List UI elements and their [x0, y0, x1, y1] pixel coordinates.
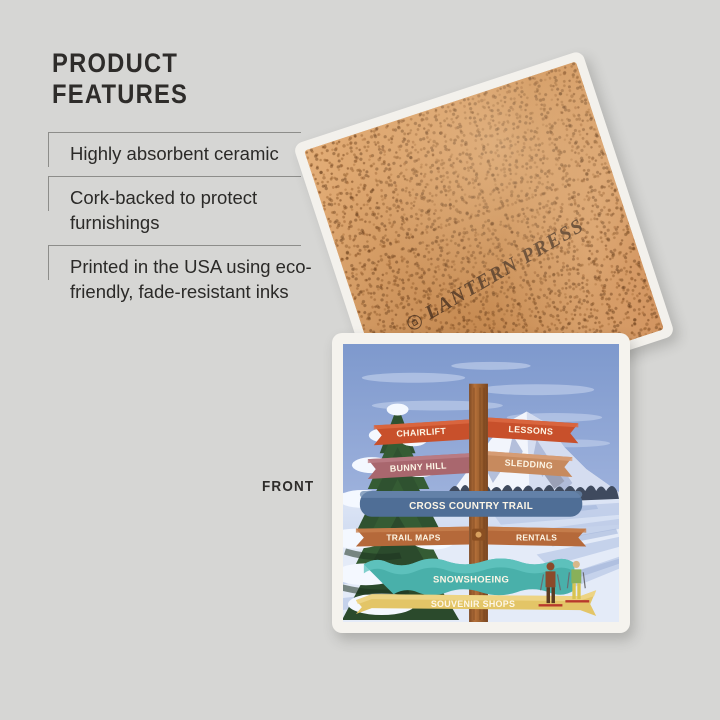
sign-label: CROSS COUNTRY TRAIL [409, 501, 533, 512]
product-features-section: PRODUCT FEATURES Highly absorbent cerami… [48, 48, 348, 314]
sign-label: SOUVENIR SHOPS [431, 599, 515, 609]
front-view-label: FRONT [262, 478, 314, 495]
sign-label: RENTALS [516, 533, 557, 543]
post-lantern-icon [472, 529, 485, 541]
coaster-artwork: CHAIRLIFT LESSONS BUNNY HILL [343, 344, 619, 622]
feature-text: Printed in the USA using eco-friendly, f… [70, 254, 348, 304]
brand-logo: LANTERN PRESS [402, 214, 588, 336]
sign-label: TRAIL MAPS [386, 533, 440, 543]
brand-name: LANTERN PRESS [421, 214, 588, 325]
sign-cross-country-trail: CROSS COUNTRY TRAIL [360, 491, 582, 517]
product-detail-panel: PRODUCT FEATURES Highly absorbent cerami… [0, 0, 720, 720]
feature-item: Printed in the USA using eco-friendly, f… [48, 245, 348, 314]
sign-rentals: RENTALS [488, 527, 586, 547]
sign-label: SNOWSHOEING [433, 573, 509, 584]
sign-trail-maps: TRAIL MAPS [356, 527, 469, 547]
coaster-front-view: CHAIRLIFT LESSONS BUNNY HILL [332, 333, 630, 633]
page-title: PRODUCT FEATURES [52, 48, 312, 110]
feature-text: Cork-backed to protect furnishings [70, 185, 348, 235]
lantern-icon [404, 312, 425, 333]
feature-item: Cork-backed to protect furnishings [48, 176, 348, 245]
